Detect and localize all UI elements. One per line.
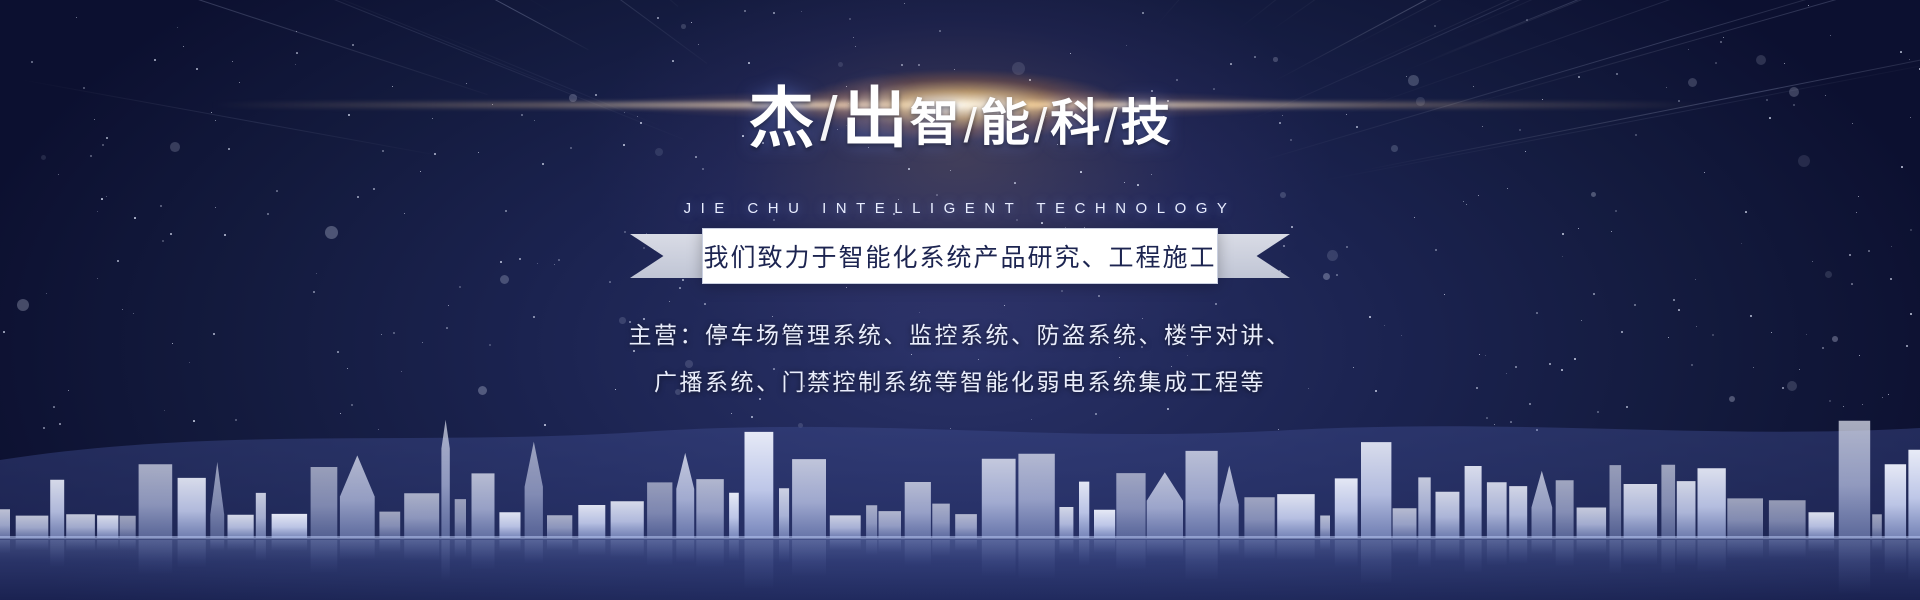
title-separator: / xyxy=(961,103,980,151)
english-subtitle: JIE CHU INTELLIGENT TECHNOLOGY xyxy=(0,200,1920,217)
ribbon-text: 我们致力于智能化系统产品研究、工程施工 xyxy=(703,238,1216,274)
title-char: 能 xyxy=(980,98,1031,151)
tagline-ribbon: 我们致力于智能化系统产品研究、工程施工 xyxy=(630,228,1290,284)
title-separator: / xyxy=(1101,103,1120,151)
brand-title: 杰/出智/能/科/技 xyxy=(0,85,1920,151)
title-separator: / xyxy=(816,89,841,151)
title-separator: / xyxy=(1031,103,1050,151)
hero-banner: 杰/出智/能/科/技 JIE CHU INTELLIGENT TECHNOLOG… xyxy=(0,0,1920,600)
title-char: 出 xyxy=(842,85,910,151)
title-char: 科 xyxy=(1050,98,1101,151)
ribbon-body: 我们致力于智能化系统产品研究、工程施工 xyxy=(702,228,1218,284)
title-char: 智 xyxy=(910,98,961,151)
description-line: 主营：停车场管理系统、监控系统、防盗系统、楼宇对讲、 xyxy=(0,318,1920,353)
title-char: 技 xyxy=(1121,98,1172,151)
description-block: 主营：停车场管理系统、监控系统、防盗系统、楼宇对讲、广播系统、门禁控制系统等智能… xyxy=(0,318,1920,411)
title-char: 杰 xyxy=(748,85,816,151)
water-reflection-decoration xyxy=(0,536,1920,600)
description-line: 广播系统、门禁控制系统等智能化弱电系统集成工程等 xyxy=(0,365,1920,400)
